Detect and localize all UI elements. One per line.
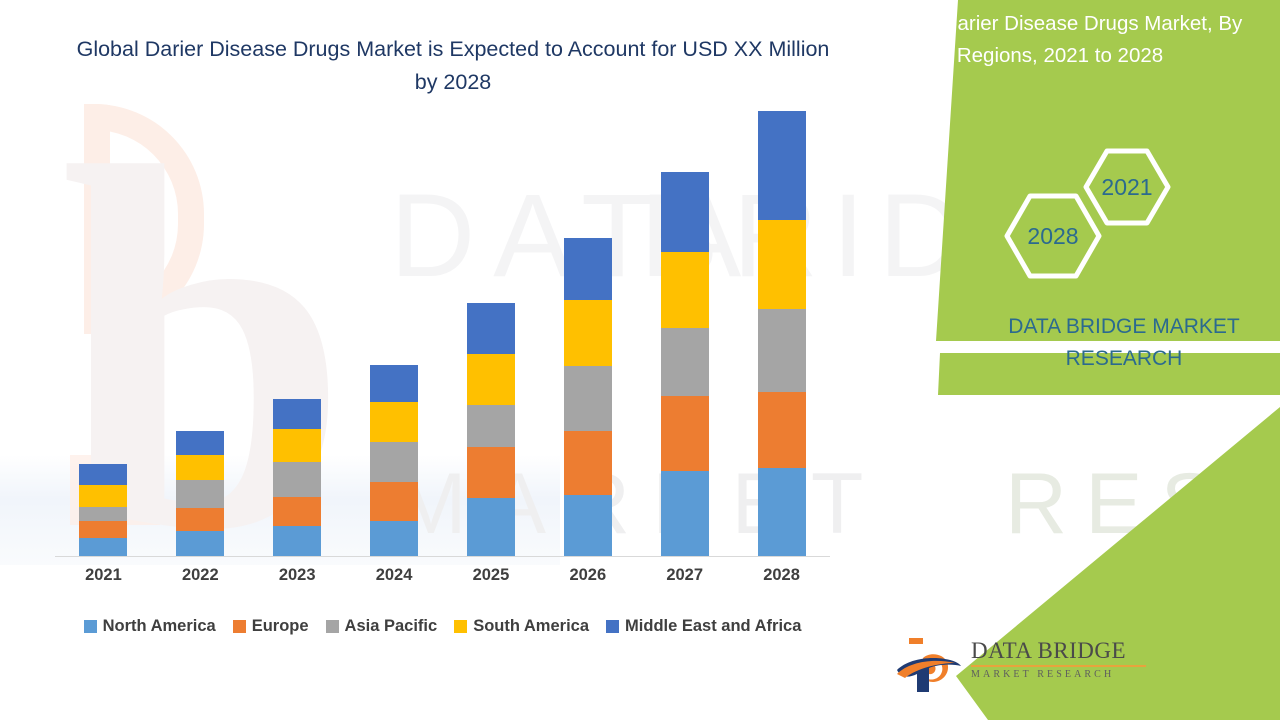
bar-segment[interactable] xyxy=(176,431,224,455)
poster-canvas: b DATA BRIDGE MARKET RESEARCH Global Dar… xyxy=(0,0,1280,720)
bar-segment[interactable] xyxy=(661,252,709,328)
chart-title: Global Darier Disease Drugs Market is Ex… xyxy=(68,33,838,99)
chart-plot-area xyxy=(55,100,830,557)
bar-segment[interactable] xyxy=(370,521,418,556)
legend-item[interactable]: North America xyxy=(84,617,216,636)
stacked-bar[interactable] xyxy=(661,172,709,556)
chart-legend: North AmericaEuropeAsia PacificSouth Ame… xyxy=(55,617,830,636)
legend-label: Asia Pacific xyxy=(345,617,438,636)
bar-segment[interactable] xyxy=(176,531,224,556)
bar-segment[interactable] xyxy=(79,485,127,507)
legend-swatch xyxy=(454,620,467,633)
logo-mark-icon xyxy=(893,634,965,696)
bar-segment[interactable] xyxy=(176,455,224,480)
legend-item[interactable]: South America xyxy=(454,617,589,636)
bar-segment[interactable] xyxy=(79,507,127,521)
x-axis-line xyxy=(55,556,830,557)
legend-item[interactable]: Asia Pacific xyxy=(326,617,438,636)
bar-segment[interactable] xyxy=(661,328,709,396)
x-axis-labels: 20212022202320242025202620272028 xyxy=(55,566,830,585)
bar-segment[interactable] xyxy=(79,538,127,556)
x-axis-tick-label: 2021 xyxy=(55,566,152,585)
stacked-bar[interactable] xyxy=(467,303,515,556)
bar-segment[interactable] xyxy=(467,498,515,556)
bar-segment[interactable] xyxy=(758,220,806,309)
stacked-bar[interactable] xyxy=(273,399,321,556)
bar-segment[interactable] xyxy=(661,172,709,252)
brand-name: DATA BRIDGE MARKET RESEARCH xyxy=(984,311,1264,375)
bar-column xyxy=(249,100,346,556)
bar-segment[interactable] xyxy=(661,471,709,556)
bar-segment[interactable] xyxy=(273,399,321,429)
legend-swatch xyxy=(326,620,339,633)
bar-segment[interactable] xyxy=(758,392,806,469)
bar-column xyxy=(346,100,443,556)
legend-label: Europe xyxy=(252,617,309,636)
bar-segment[interactable] xyxy=(758,111,806,220)
bar-segment[interactable] xyxy=(370,402,418,442)
x-axis-tick-label: 2022 xyxy=(152,566,249,585)
legend-label: North America xyxy=(103,617,216,636)
legend-item[interactable]: Europe xyxy=(233,617,309,636)
bar-segment[interactable] xyxy=(273,429,321,463)
x-axis-tick-label: 2026 xyxy=(539,566,636,585)
legend-swatch xyxy=(606,620,619,633)
x-axis-tick-label: 2025 xyxy=(443,566,540,585)
panel-title: Global Darier Disease Drugs Market, By R… xyxy=(862,8,1258,72)
bar-segment[interactable] xyxy=(273,462,321,497)
logo-sub-text: MARKET RESEARCH xyxy=(971,669,1151,680)
bar-segment[interactable] xyxy=(176,480,224,508)
bar-column xyxy=(733,100,830,556)
bar-column xyxy=(539,100,636,556)
legend-item[interactable]: Middle East and Africa xyxy=(606,617,801,636)
bar-segment[interactable] xyxy=(79,464,127,486)
stacked-bar[interactable] xyxy=(564,238,612,556)
company-logo: DATA BRIDGE MARKET RESEARCH xyxy=(893,634,1143,696)
stacked-bar[interactable] xyxy=(176,431,224,556)
bar-segment[interactable] xyxy=(273,497,321,526)
bar-segment[interactable] xyxy=(661,396,709,470)
bar-column xyxy=(636,100,733,556)
hexagon-badge-2021-label: 2021 xyxy=(1101,174,1152,201)
bar-segment[interactable] xyxy=(564,495,612,556)
bar-segment[interactable] xyxy=(176,508,224,531)
x-axis-tick-label: 2023 xyxy=(249,566,346,585)
logo-main-text: DATA BRIDGE xyxy=(971,638,1151,664)
bar-segment[interactable] xyxy=(758,468,806,556)
bar-segment[interactable] xyxy=(758,309,806,392)
bar-segment[interactable] xyxy=(564,366,612,431)
bar-segment[interactable] xyxy=(370,482,418,522)
bar-segment[interactable] xyxy=(564,431,612,495)
x-axis-tick-label: 2024 xyxy=(346,566,443,585)
stacked-bar[interactable] xyxy=(79,464,127,556)
legend-swatch xyxy=(84,620,97,633)
bar-column xyxy=(55,100,152,556)
bar-segment[interactable] xyxy=(564,238,612,300)
bar-group xyxy=(55,100,830,556)
x-axis-tick-label: 2027 xyxy=(636,566,733,585)
bar-segment[interactable] xyxy=(79,521,127,538)
hexagon-badge-2028-label: 2028 xyxy=(1027,223,1078,250)
bar-segment[interactable] xyxy=(273,526,321,556)
stacked-bar[interactable] xyxy=(758,111,806,556)
x-axis-tick-label: 2028 xyxy=(733,566,830,585)
logo-divider xyxy=(971,665,1146,667)
bar-segment[interactable] xyxy=(467,303,515,355)
bar-segment[interactable] xyxy=(467,405,515,447)
hexagon-badge-2021: 2021 xyxy=(1083,148,1171,226)
bar-segment[interactable] xyxy=(564,300,612,366)
stacked-bar[interactable] xyxy=(370,365,418,556)
bar-column xyxy=(443,100,540,556)
legend-label: Middle East and Africa xyxy=(625,617,801,636)
brand-name-line1: DATA BRIDGE MARKET xyxy=(984,311,1264,343)
bar-segment[interactable] xyxy=(467,354,515,404)
legend-swatch xyxy=(233,620,246,633)
bar-segment[interactable] xyxy=(370,442,418,482)
bar-segment[interactable] xyxy=(370,365,418,402)
brand-name-line2: RESEARCH xyxy=(984,343,1264,375)
bar-column xyxy=(152,100,249,556)
bar-segment[interactable] xyxy=(467,447,515,499)
logo-wordmark: DATA BRIDGE MARKET RESEARCH xyxy=(971,638,1151,680)
legend-label: South America xyxy=(473,617,589,636)
